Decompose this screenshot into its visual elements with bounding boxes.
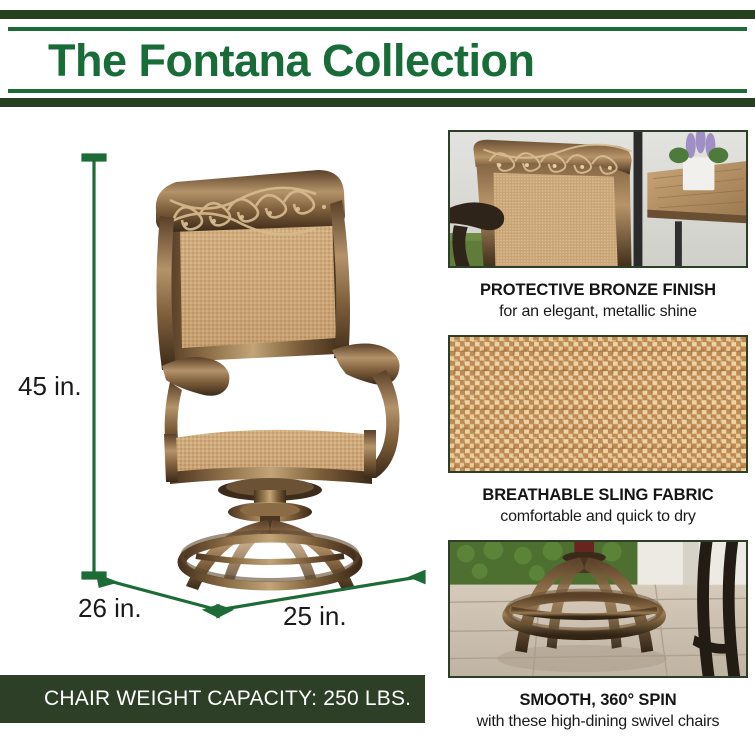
dimension-depth-label: 26 in.	[78, 593, 142, 624]
header-rule-thin-bottom	[8, 89, 747, 93]
header-rule-thin-top	[8, 27, 747, 31]
product-dimension-panel: 45 in. 26 in. 25 in. CHAIR WEIGHT CAPACI…	[0, 110, 440, 755]
chair-illustration	[118, 138, 418, 593]
page-title: The Fontana Collection	[48, 36, 708, 86]
swivel-base-footring-photo	[448, 540, 748, 678]
header-rule-thick-top	[0, 10, 755, 19]
dimension-height-label: 45 in.	[18, 371, 82, 402]
dimension-width-label: 25 in.	[283, 601, 347, 632]
feature-subtitle: comfortable and quick to dry	[448, 506, 748, 527]
feature-card-bronze-finish: PROTECTIVE BRONZE FINISH for an elegant,…	[448, 130, 748, 322]
feature-card-sling-fabric: BREATHABLE SLING FABRIC comfortable and …	[448, 335, 748, 527]
feature-subtitle: for an elegant, metallic shine	[448, 301, 748, 322]
feature-card-swivel-spin: SMOOTH, 360° SPIN with these high-dining…	[448, 540, 748, 732]
sling-fabric-weave-closeup-photo	[448, 335, 748, 473]
header-rule-thick-bottom	[0, 98, 755, 107]
feature-title: PROTECTIVE BRONZE FINISH	[448, 280, 748, 300]
page-header: The Fontana Collection	[0, 0, 755, 110]
feature-subtitle: with these high-dining swivel chairs	[448, 711, 748, 732]
chair-weight-capacity-bar: CHAIR WEIGHT CAPACITY: 250 LBS.	[0, 675, 425, 723]
feature-panel-list: PROTECTIVE BRONZE FINISH for an elegant,…	[448, 110, 755, 755]
chair-weight-capacity-label: CHAIR WEIGHT CAPACITY: 250 LBS.	[44, 687, 411, 711]
feature-title: BREATHABLE SLING FABRIC	[448, 485, 748, 505]
feature-title: SMOOTH, 360° SPIN	[448, 690, 748, 710]
chair-backrest-scrollwork-photo	[448, 130, 748, 268]
product-image	[118, 138, 418, 593]
